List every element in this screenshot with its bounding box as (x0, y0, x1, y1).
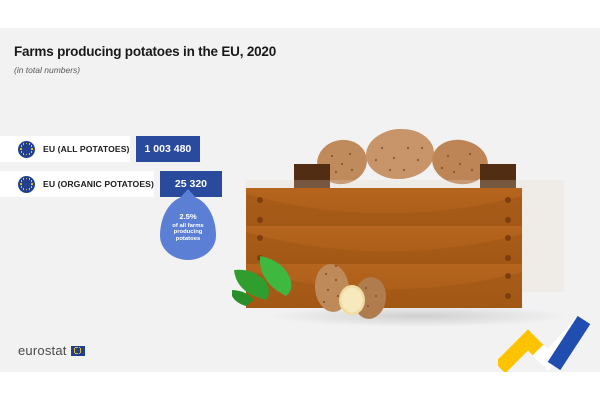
crate-plank (246, 226, 522, 270)
data-row: EU (ALL POTATOES) 1 003 480 (0, 136, 200, 162)
callout-line-1: of all farms (172, 223, 203, 230)
potato-crate-illustration (232, 120, 584, 335)
row-label: EU (ORGANIC POTATOES) (43, 179, 154, 189)
value-badge: 1 003 480 (136, 136, 201, 162)
eu-flag-circle-icon (18, 176, 35, 193)
eu-flag-icon (71, 346, 85, 356)
eu-flag-circle-icon (18, 141, 35, 158)
callout-percent: 2.5% (179, 213, 196, 222)
zigzag-mark (498, 316, 594, 372)
infographic-canvas: Farms producing potatoes in the EU, 2020… (0, 0, 600, 400)
eurostat-logo: eurostat (18, 343, 85, 358)
page-subtitle: (in total numbers) (14, 65, 80, 75)
row-label-strip: EU (ALL POTATOES) (0, 136, 130, 162)
logo-text: eurostat (18, 343, 67, 358)
callout-line-3: potatoes (176, 236, 201, 243)
callout-line-2: producing (174, 229, 203, 236)
potatoes-in-crate (313, 127, 491, 189)
crate-plank (246, 188, 522, 232)
row-label: EU (ALL POTATOES) (43, 144, 130, 154)
row-label-strip: EU (ORGANIC POTATOES) (0, 171, 154, 197)
page-title: Farms producing potatoes in the EU, 2020 (14, 44, 276, 59)
callout-text: 2.5% of all farms producing potatoes (160, 196, 216, 260)
percentage-callout: 2.5% of all farms producing potatoes (160, 196, 216, 260)
